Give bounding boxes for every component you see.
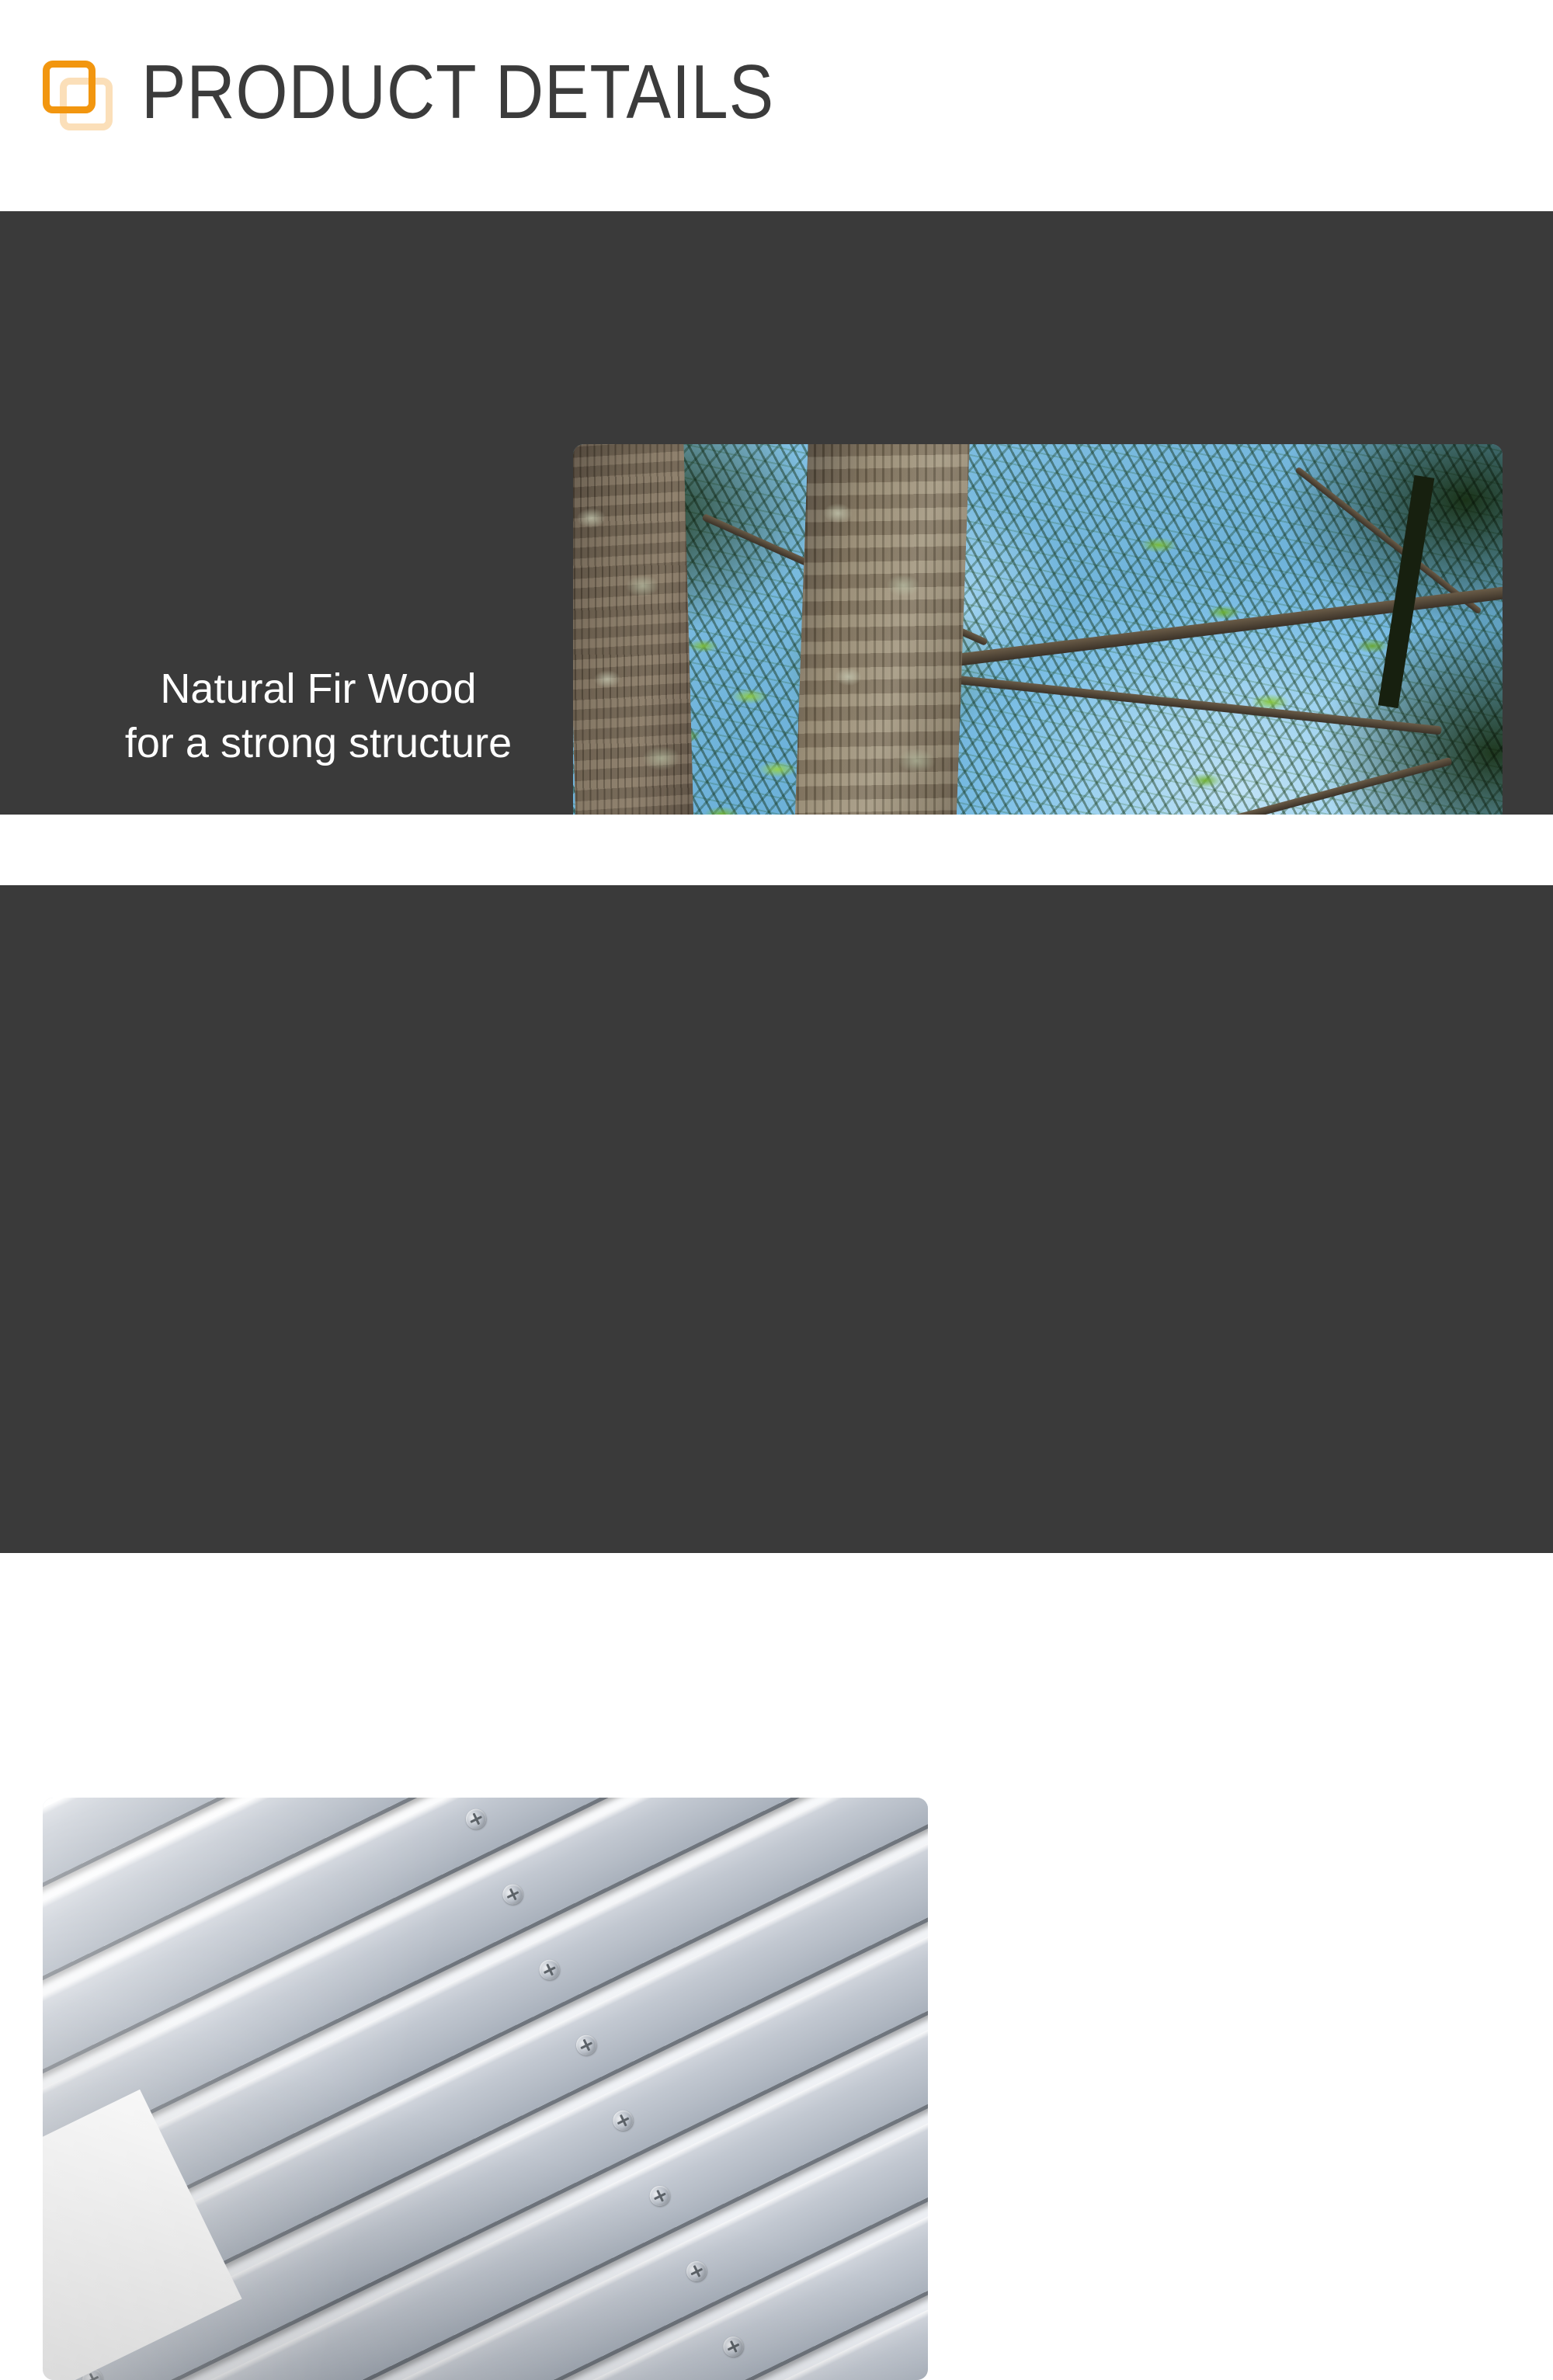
brand-logo-icon bbox=[43, 61, 114, 132]
section-natural-fir-wood: Natural Fir Wood for a strong structure bbox=[0, 211, 1553, 815]
page-header: PRODUCT DETAILS bbox=[0, 0, 1553, 211]
deck-screw bbox=[646, 2183, 673, 2210]
section-slatted-structure: Slatted Structure avoids accumulated wat… bbox=[0, 885, 1553, 1553]
section-divider bbox=[0, 815, 1553, 885]
grey-slatted-wood-deck-photo bbox=[43, 1798, 928, 2380]
deck-screw bbox=[463, 1805, 490, 1833]
section-2-caption: Slatted Structure avoids accumulated wat… bbox=[963, 2011, 1460, 2120]
page-title: PRODUCT DETAILS bbox=[141, 48, 774, 135]
deck-screw bbox=[683, 2258, 710, 2285]
logo-square-front bbox=[43, 61, 96, 113]
deck-screw bbox=[720, 2333, 747, 2361]
section-1-caption: Natural Fir Wood for a strong structure bbox=[116, 662, 520, 770]
deck-screw bbox=[573, 2031, 600, 2059]
deck-screw bbox=[499, 1881, 526, 1908]
deck-screw bbox=[536, 1956, 563, 1983]
deck-screw bbox=[610, 2107, 637, 2135]
